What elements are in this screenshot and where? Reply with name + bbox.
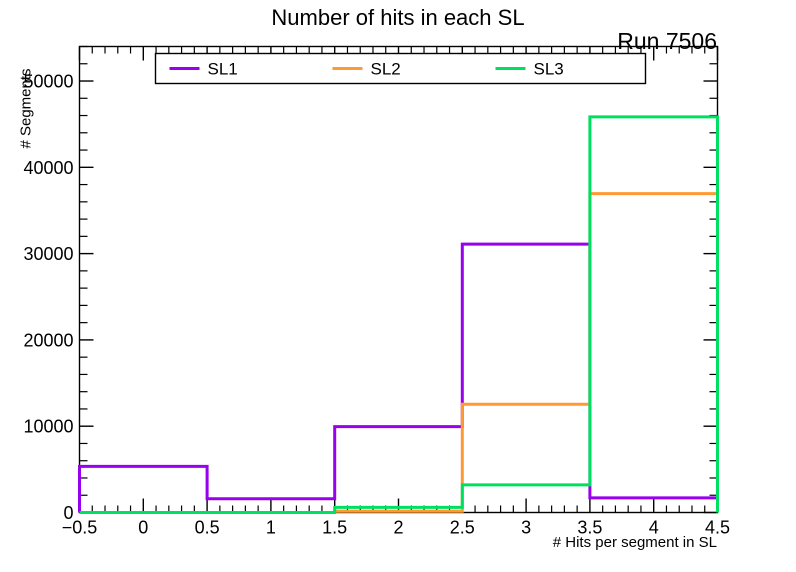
legend-label-sl3[interactable]: SL3	[534, 60, 564, 79]
histogram-line-sl2	[80, 194, 718, 513]
x-tick-label: 1	[266, 518, 276, 538]
x-tick-label: 4	[649, 518, 659, 538]
x-tick-label: 1.5	[322, 518, 347, 538]
x-tick-label: 2	[393, 518, 403, 538]
y-tick-label: 20000	[23, 330, 73, 350]
x-tick-label: 3	[521, 518, 531, 538]
chart-canvas: Number of hits in each SL Run 7506 # Seg…	[0, 0, 796, 572]
x-tick-label: 3.5	[577, 518, 602, 538]
y-axis-tick-labels: 01000020000300004000050000	[23, 72, 73, 523]
histogram-series	[80, 117, 718, 513]
histogram-line-sl1	[80, 244, 718, 512]
x-tick-label: 0.5	[195, 518, 220, 538]
x-tick-label: 4.5	[705, 518, 730, 538]
x-tick-label: −0.5	[62, 518, 98, 538]
y-tick-label: 30000	[23, 244, 73, 264]
y-tick-label: 10000	[23, 417, 73, 437]
x-tick-label: 2.5	[450, 518, 475, 538]
legend-label-sl1[interactable]: SL1	[208, 60, 238, 79]
x-tick-label: 0	[138, 518, 148, 538]
legend-label-sl2[interactable]: SL2	[371, 60, 401, 79]
y-tick-label: 50000	[23, 72, 73, 92]
histogram-plot: 01000020000300004000050000 −0.500.511.52…	[0, 0, 796, 572]
y-tick-label: 40000	[23, 158, 73, 178]
histogram-line-sl3	[80, 117, 718, 513]
x-axis-tick-labels: −0.500.511.522.533.544.5	[62, 518, 730, 538]
legend: SL1SL2SL3	[156, 54, 646, 84]
